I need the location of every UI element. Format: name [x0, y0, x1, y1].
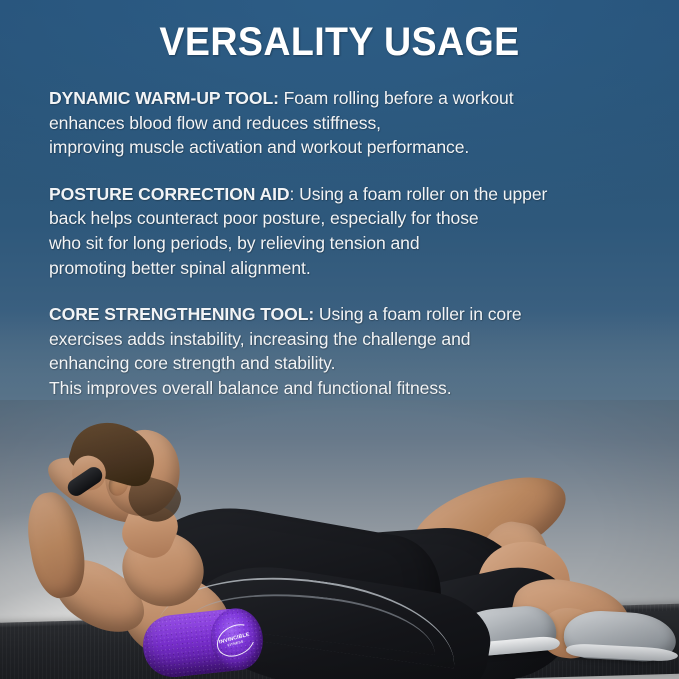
- text-line: back helps counteract poor posture, espe…: [49, 206, 649, 231]
- section-dynamic-warm-up-tool: DYNAMIC WARM-UP TOOL: Foam rolling befor…: [49, 86, 649, 160]
- text-line: enhancing core strength and stability.: [49, 351, 649, 376]
- section-text: Foam rolling before a workout: [279, 88, 514, 108]
- usage-sections: DYNAMIC WARM-UP TOOL: Foam rolling befor…: [49, 86, 649, 401]
- section-heading: DYNAMIC WARM-UP TOOL:: [49, 88, 279, 108]
- text-line: DYNAMIC WARM-UP TOOL: Foam rolling befor…: [49, 86, 649, 111]
- section-heading: POSTURE CORRECTION AID: [49, 184, 290, 204]
- section-posture-correction-aid: POSTURE CORRECTION AID: Using a foam rol…: [49, 182, 649, 280]
- text-line: POSTURE CORRECTION AID: Using a foam rol…: [49, 182, 649, 207]
- section-text: Using a foam roller in core: [314, 304, 521, 324]
- section-heading: CORE STRENGTHENING TOOL:: [49, 304, 314, 324]
- text-line: who sit for long periods, by relieving t…: [49, 231, 649, 256]
- text-line: CORE STRENGTHENING TOOL: Using a foam ro…: [49, 302, 649, 327]
- lifestyle-photo: INVINCIBLE FITNESS: [0, 400, 679, 679]
- text-line: exercises adds instability, increasing t…: [49, 327, 649, 352]
- section-text: : Using a foam roller on the upper: [290, 184, 548, 204]
- text-line: enhances blood flow and reduces stiffnes…: [49, 111, 649, 136]
- text-line: promoting better spinal alignment.: [49, 256, 649, 281]
- photo-vignette: [0, 400, 679, 679]
- section-core-strengthening-tool: CORE STRENGTHENING TOOL: Using a foam ro…: [49, 302, 649, 400]
- page-title: VERSALITY USAGE: [20, 21, 658, 63]
- versality-usage-poster: VERSALITY USAGE DYNAMIC WARM-UP TOOL: Fo…: [0, 0, 679, 679]
- text-line: This improves overall balance and functi…: [49, 376, 649, 401]
- text-line: improving muscle activation and workout …: [49, 135, 649, 160]
